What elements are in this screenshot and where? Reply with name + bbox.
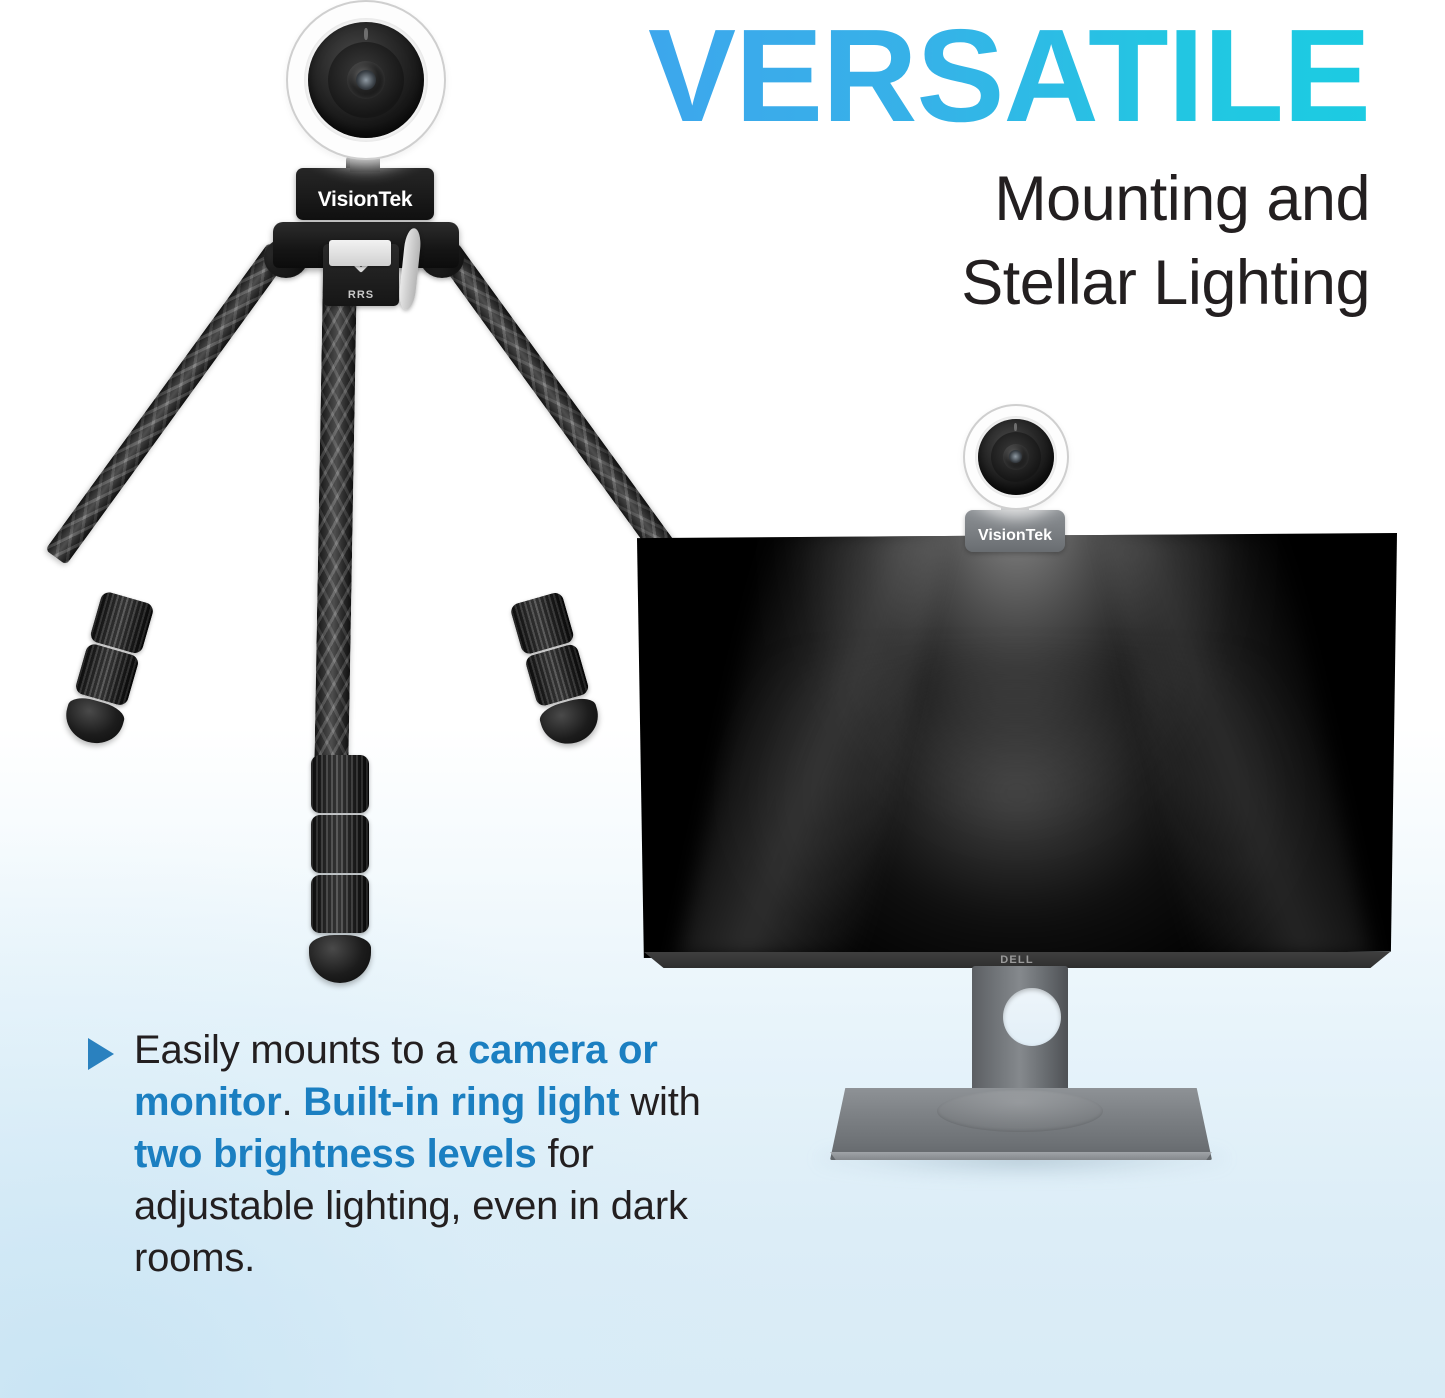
- monitor-screen: [637, 533, 1397, 958]
- monitor-webcam-head: [955, 400, 1079, 512]
- subtitle-line-2: Stellar Lighting: [560, 242, 1370, 326]
- tripod-leg-left: [45, 242, 289, 565]
- monitor-brand-label: DELL: [1000, 954, 1034, 966]
- webcam-microphone-icon: [1014, 423, 1017, 431]
- feature-highlight-text: two brightness levels: [134, 1132, 537, 1176]
- tripod-leg-lock-stack-right: [509, 590, 604, 750]
- monitor-stand-base-edge: [830, 1152, 1212, 1160]
- tripod-leg-lock-stack-center: [311, 755, 371, 983]
- tripod-webcam-product-image: RRS VisionTek: [30, 0, 590, 1010]
- webcam-microphone-icon: [364, 28, 368, 40]
- subtitle: Mounting and Stellar Lighting: [560, 158, 1370, 326]
- feature-plain-text: Easily mounts to a: [134, 1028, 468, 1072]
- headline-block: VERSATILE Mounting and Stellar Lighting: [560, 10, 1370, 326]
- page-title: VERSATILE: [560, 10, 1370, 142]
- marketing-banner: VERSATILE Mounting and Stellar Lighting …: [0, 0, 1445, 1398]
- tripod-leg-center: [314, 270, 357, 771]
- monitor-webcam-mount-clip: VisionTek: [965, 510, 1065, 552]
- twist-lock: [311, 875, 369, 933]
- tripod-webcam-head: [272, 0, 462, 164]
- feature-description-block: Easily mounts to a camera or monitor. Bu…: [88, 1024, 728, 1284]
- webcam-brand-label: VisionTek: [318, 188, 413, 212]
- feature-highlight-text: Built-in ring light: [303, 1080, 619, 1124]
- cable-management-hole: [1003, 988, 1061, 1046]
- webcam-mount-clip: VisionTek: [296, 168, 434, 220]
- twist-lock: [311, 815, 369, 873]
- subtitle-line-1: Mounting and: [560, 158, 1370, 242]
- triangle-right-icon: [88, 1038, 114, 1070]
- tripod-foot: [309, 935, 371, 983]
- tripod-leg-lock-stack-left: [62, 590, 157, 750]
- monitor-stand-swivel-plate: [937, 1090, 1103, 1132]
- quick-release-plate: [329, 240, 391, 266]
- tripod-brand-label: RRS: [348, 289, 374, 301]
- monitor-webcam-product-image: DELL VisionTek: [637, 400, 1397, 1200]
- twist-lock: [311, 755, 369, 813]
- monitor-webcam-brand-label: VisionTek: [978, 527, 1052, 545]
- webcam-lens-glint: [1009, 450, 1022, 463]
- feature-plain-text: .: [281, 1080, 303, 1124]
- webcam-lens-glint: [356, 70, 376, 90]
